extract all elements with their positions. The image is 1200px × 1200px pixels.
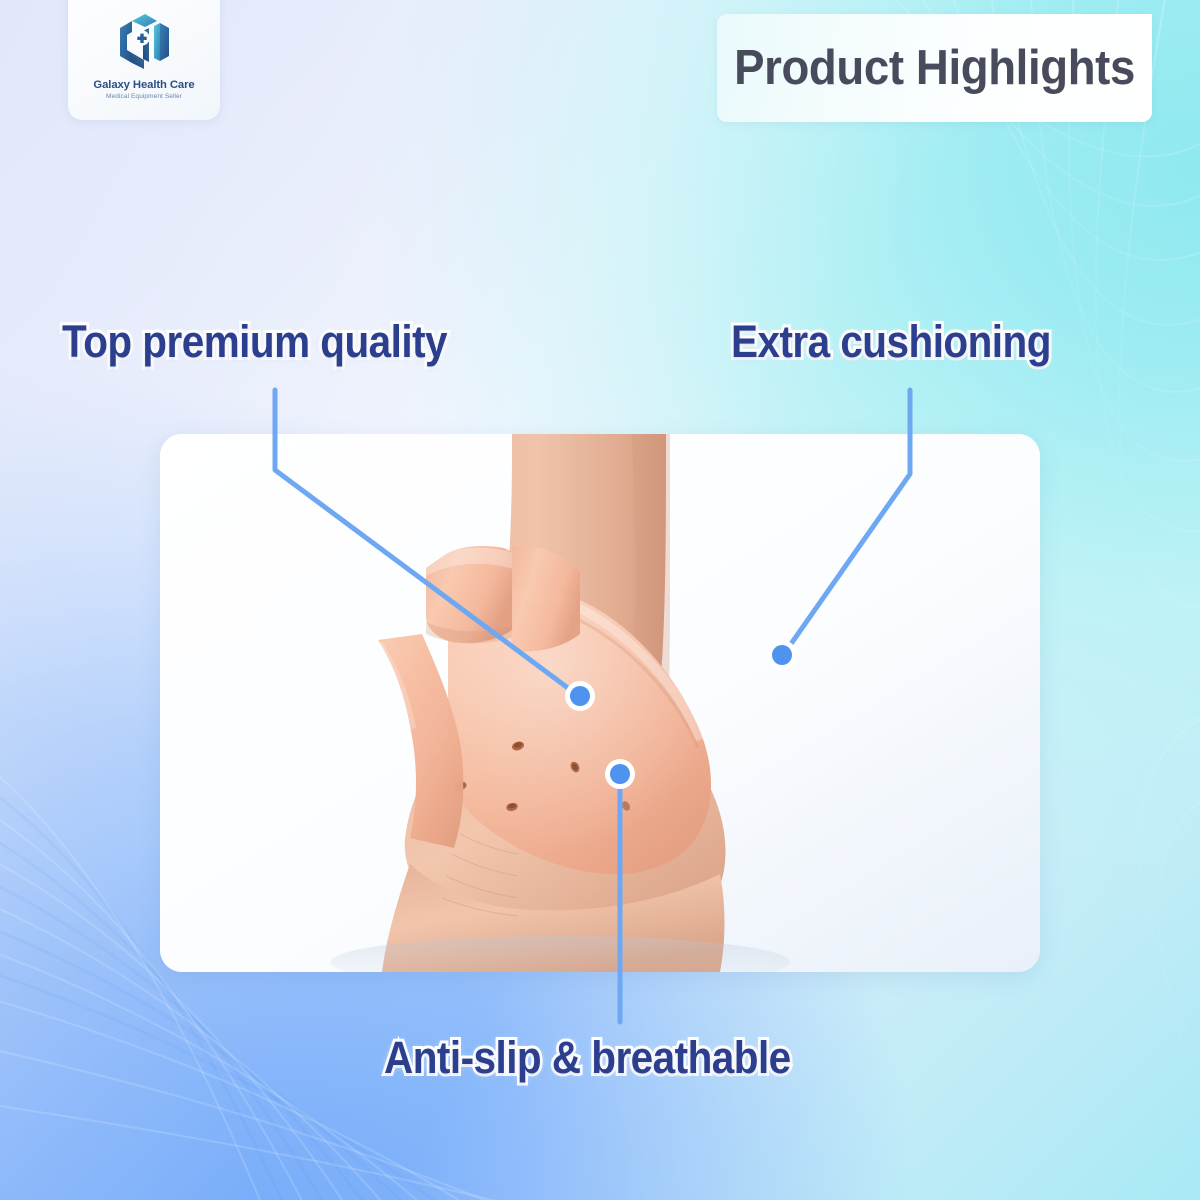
product-image-card[interactable] <box>160 434 1040 972</box>
callout-label-anti-slip-breathable: Anti-slip & breathable <box>384 1032 791 1084</box>
brand-logo-card[interactable]: Galaxy Health Care Medical Equipment Sel… <box>68 0 220 120</box>
ghc-hexagon-medical-cross-logo <box>112 12 176 72</box>
poster-canvas: Galaxy Health Care Medical Equipment Sel… <box>0 0 1200 1200</box>
header-card: Product Highlights <box>717 14 1152 122</box>
callout-label-extra-cushioning: Extra cushioning <box>731 316 1051 368</box>
brand-tagline: Medical Equipment Seller <box>106 93 182 100</box>
brand-name: Galaxy Health Care <box>93 79 194 91</box>
silicone-heel-protector-photo <box>160 434 1040 972</box>
callout-label-top-premium-quality: Top premium quality <box>62 316 447 368</box>
page-title: Product Highlights <box>734 40 1135 96</box>
